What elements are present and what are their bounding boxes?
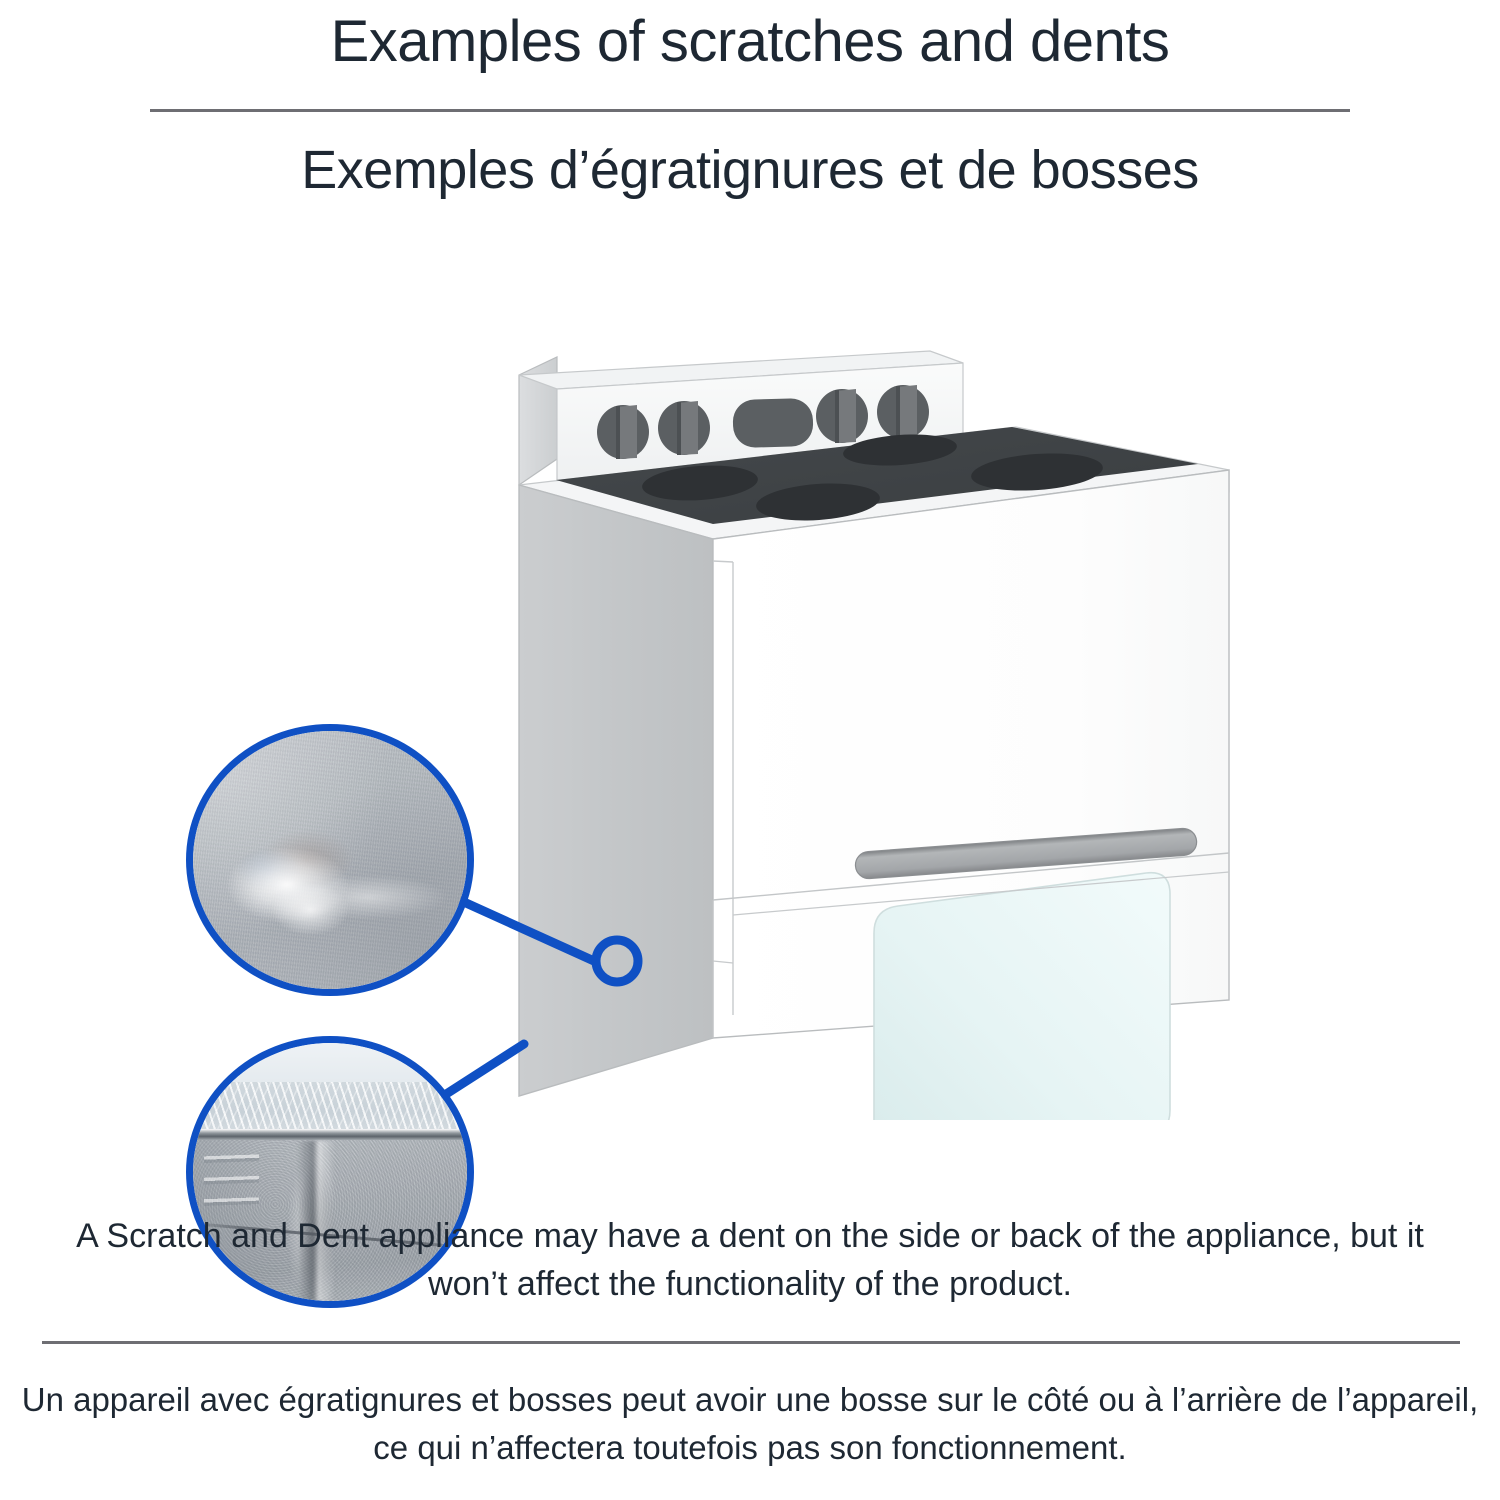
burner-knob-1[interactable] bbox=[597, 405, 649, 459]
illustration-stage bbox=[0, 300, 1500, 1120]
brushed-steel-texture bbox=[193, 731, 467, 989]
control-display[interactable] bbox=[732, 398, 813, 448]
footer-text-fr: Un appareil avec égratignures et bosses … bbox=[18, 1376, 1482, 1472]
photo-background-band bbox=[193, 1043, 467, 1087]
oven-door-window bbox=[874, 873, 1170, 1120]
photo-plastic-wrap-band bbox=[193, 1082, 467, 1134]
burner-knob-2[interactable] bbox=[658, 401, 710, 455]
burner-knob-4[interactable] bbox=[877, 385, 929, 439]
callout-photo-dent-side[interactable] bbox=[186, 724, 474, 996]
stove-illustration bbox=[0, 300, 1500, 1120]
page-title-en: Examples of scratches and dents bbox=[0, 6, 1500, 78]
page-title-fr: Exemples d’égratignures et de bosses bbox=[0, 136, 1500, 204]
callout-photo-dent-side-image bbox=[193, 731, 467, 989]
footer-text-en: A Scratch and Dent appliance may have a … bbox=[40, 1212, 1460, 1308]
photo-vent-slots bbox=[204, 1145, 259, 1214]
front-panel-top-seam bbox=[713, 561, 733, 562]
footer-divider-rule bbox=[42, 1341, 1460, 1344]
poster-page: Examples of scratches and dents Exemples… bbox=[0, 0, 1500, 1500]
stove-body bbox=[519, 351, 1229, 1120]
stove-left-side-panel bbox=[519, 485, 713, 1096]
title-divider-rule bbox=[150, 109, 1350, 112]
burner-knob-3[interactable] bbox=[816, 389, 868, 443]
